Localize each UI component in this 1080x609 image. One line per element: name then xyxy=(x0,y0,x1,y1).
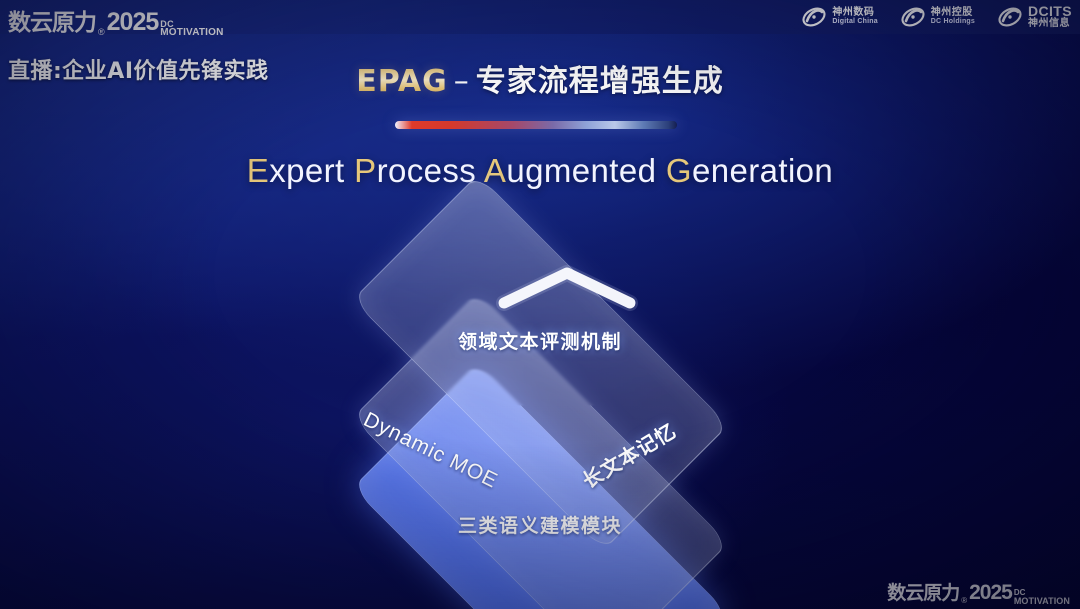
partner-name-cn: 神州数码 xyxy=(832,8,877,19)
gradient-divider xyxy=(395,121,677,129)
brand-name-cn: 数云原力 xyxy=(887,578,959,605)
partner-logo-digital-china: 神州数码 Digital China xyxy=(801,5,877,29)
partner-logo-dc-holdings: 神州控股 DC Holdings xyxy=(900,5,975,29)
partner-label: 神州数码 Digital China xyxy=(832,8,877,26)
subtitle-initial-p: P xyxy=(354,152,376,189)
brand-dc-motivation: DC MOTIVATION xyxy=(160,20,223,37)
slide-canvas: 数云原力 ® 2025 DC MOTIVATION 直播:企业AI价值先锋实践 … xyxy=(0,0,1080,609)
subtitle-initial-a: A xyxy=(484,152,506,189)
partner-logo-group: 神州数码 Digital China 神州控股 DC Holdings xyxy=(801,4,1072,29)
subtitle-word-augmented: ugmented xyxy=(506,152,666,189)
brand-dc-motivation: DC MOTIVATION xyxy=(1014,589,1070,605)
brand-logo-topleft: 数云原力 ® 2025 DC MOTIVATION xyxy=(8,3,224,37)
brand-name-cn: 数云原力 xyxy=(8,3,96,37)
title-acronym: EPAG xyxy=(356,64,448,99)
swirl-logo-icon xyxy=(997,5,1023,29)
partner-label: DCITS 神州信息 xyxy=(1028,4,1072,29)
partner-name-cn: 神州控股 xyxy=(931,8,975,19)
brand-motivation: MOTIVATION xyxy=(160,28,223,37)
swirl-logo-icon xyxy=(900,5,926,29)
registered-mark: ® xyxy=(961,596,967,605)
partner-name-en: DCITS xyxy=(1028,4,1072,19)
subtitle-word-expert: xpert xyxy=(269,152,354,189)
brand-year: 2025 xyxy=(969,581,1012,605)
brand-motivation: MOTIVATION xyxy=(1014,597,1070,605)
registered-mark: ® xyxy=(98,27,105,37)
layer-top-label: 领域文本评测机制 xyxy=(260,327,820,354)
partner-name-en: DC Holdings xyxy=(931,18,975,25)
partner-logo-dcits: DCITS 神州信息 xyxy=(997,4,1072,29)
title-chinese: 专家流程增强生成 xyxy=(476,64,724,99)
partner-name-en: Digital China xyxy=(832,18,877,25)
subtitle-initial-e: E xyxy=(247,152,269,189)
brand-logo-watermark: 数云原力 ® 2025 DC MOTIVATION xyxy=(887,578,1070,605)
page-title: EPAG–专家流程增强生成 xyxy=(0,56,1080,100)
title-dash: – xyxy=(454,64,470,99)
swirl-logo-icon xyxy=(801,5,827,29)
subtitle-initial-g: G xyxy=(666,152,692,189)
layered-architecture-diagram: 领域文本评测机制 Dynamic MOE 长文本记忆 三类语义建模模块 xyxy=(260,225,820,570)
page-subtitle: Expert Process Augmented Generation xyxy=(0,152,1080,190)
subtitle-word-generation: eneration xyxy=(692,152,833,189)
layer-bottom-label: 三类语义建模模块 xyxy=(260,511,820,538)
partner-label: 神州控股 DC Holdings xyxy=(931,8,975,26)
brand-year: 2025 xyxy=(107,8,159,37)
partner-name-cn: 神州信息 xyxy=(1028,19,1072,30)
